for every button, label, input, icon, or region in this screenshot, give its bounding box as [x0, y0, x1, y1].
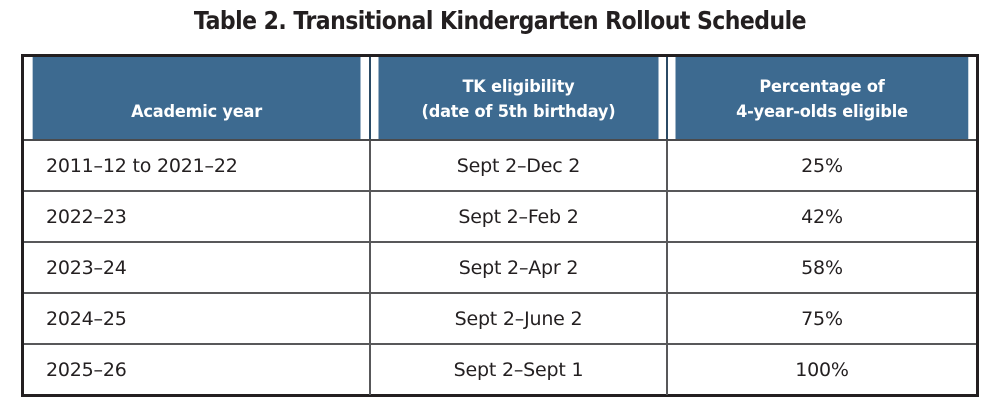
- table-header-row: Academic year TK eligibility (date of 5t…: [24, 57, 976, 140]
- table-row: 2025–26 Sept 2–Sept 1 100%: [24, 344, 976, 395]
- cell-percentage: 42%: [667, 191, 976, 242]
- cell-percentage: 25%: [667, 140, 976, 191]
- table-row: 2011–12 to 2021–22 Sept 2–Dec 2 25%: [24, 140, 976, 191]
- column-header-academic-year: Academic year: [33, 57, 362, 140]
- cell-percentage: 75%: [667, 293, 976, 344]
- table-container: Academic year TK eligibility (date of 5t…: [21, 54, 979, 397]
- table-row: 2024–25 Sept 2–June 2 75%: [24, 293, 976, 344]
- cell-percentage: 100%: [667, 344, 976, 395]
- table-body: 2011–12 to 2021–22 Sept 2–Dec 2 25% 2022…: [24, 140, 976, 395]
- column-header-percentage-line-2: 4-year-olds eligible: [683, 100, 960, 125]
- column-header-tk-eligibility-line-1: TK eligibility: [386, 75, 651, 100]
- column-header-percentage: Percentage of 4-year-olds eligible: [675, 57, 969, 140]
- column-header-tk-eligibility: TK eligibility (date of 5th birthday): [377, 57, 659, 140]
- column-header-percentage-line-1: Percentage of: [683, 75, 960, 100]
- cell-tk-eligibility: Sept 2–June 2: [370, 293, 667, 344]
- table-header: Academic year TK eligibility (date of 5t…: [24, 57, 976, 140]
- cell-tk-eligibility: Sept 2–Feb 2: [370, 191, 667, 242]
- cell-tk-eligibility: Sept 2–Apr 2: [370, 242, 667, 293]
- tk-rollout-table: Academic year TK eligibility (date of 5t…: [24, 57, 976, 395]
- page-title: Table 2. Transitional Kindergarten Rollo…: [60, 6, 940, 36]
- column-header-academic-year-line-1: Academic year: [40, 100, 353, 125]
- table-row: 2022–23 Sept 2–Feb 2 42%: [24, 191, 976, 242]
- cell-academic-year: 2011–12 to 2021–22: [24, 140, 370, 191]
- table-figure: Table 2. Transitional Kindergarten Rollo…: [0, 0, 1000, 414]
- cell-academic-year: 2024–25: [24, 293, 370, 344]
- column-header-tk-eligibility-line-2: (date of 5th birthday): [386, 100, 651, 125]
- cell-academic-year: 2023–24: [24, 242, 370, 293]
- cell-academic-year: 2025–26: [24, 344, 370, 395]
- cell-tk-eligibility: Sept 2–Sept 1: [370, 344, 667, 395]
- cell-percentage: 58%: [667, 242, 976, 293]
- cell-academic-year: 2022–23: [24, 191, 370, 242]
- table-row: 2023–24 Sept 2–Apr 2 58%: [24, 242, 976, 293]
- cell-tk-eligibility: Sept 2–Dec 2: [370, 140, 667, 191]
